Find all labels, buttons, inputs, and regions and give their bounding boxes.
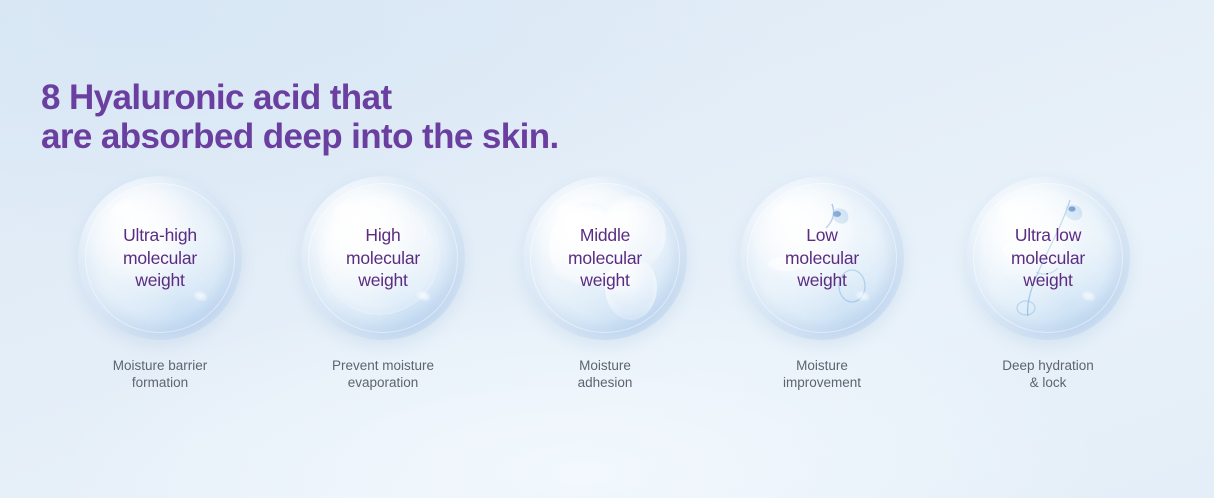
bubble-item-ultra-low: Ultra low molecular weight Deep hydratio… <box>948 176 1148 396</box>
bubble-item-high: High molecular weight Prevent moisture e… <box>283 176 483 396</box>
headline-line-1: 8 Hyaluronic acid that <box>41 78 392 117</box>
bubble-caption: Prevent moisture evaporation <box>283 357 483 391</box>
bubble-caption: Deep hydration & lock <box>948 357 1148 391</box>
bubble-label: Low molecular weight <box>722 176 922 340</box>
bubble-caption: Moisture barrier formation <box>60 357 260 391</box>
bubble-row: Ultra-high molecular weight Moisture bar… <box>0 176 1214 396</box>
page-title: 8 Hyaluronic acid that are absorbed deep… <box>41 78 559 156</box>
bubble-label: Ultra low molecular weight <box>948 176 1148 340</box>
bubble-label: High molecular weight <box>283 176 483 340</box>
bubble-item-low: Low molecular weight Moisture improvemen… <box>722 176 922 396</box>
bubble-caption: Moisture improvement <box>722 357 922 391</box>
headline-line-2: are absorbed deep into the skin. <box>41 117 559 156</box>
bubble-caption: Moisture adhesion <box>505 357 705 391</box>
bubble-item-ultra-high: Ultra-high molecular weight Moisture bar… <box>60 176 260 396</box>
hyaluronic-acid-banner: 8 Hyaluronic acid that are absorbed deep… <box>0 0 1214 498</box>
bubble-label: Middle molecular weight <box>505 176 705 340</box>
bubble-label: Ultra-high molecular weight <box>60 176 260 340</box>
bubble-item-middle: Middle molecular weight Moisture adhesio… <box>505 176 705 396</box>
